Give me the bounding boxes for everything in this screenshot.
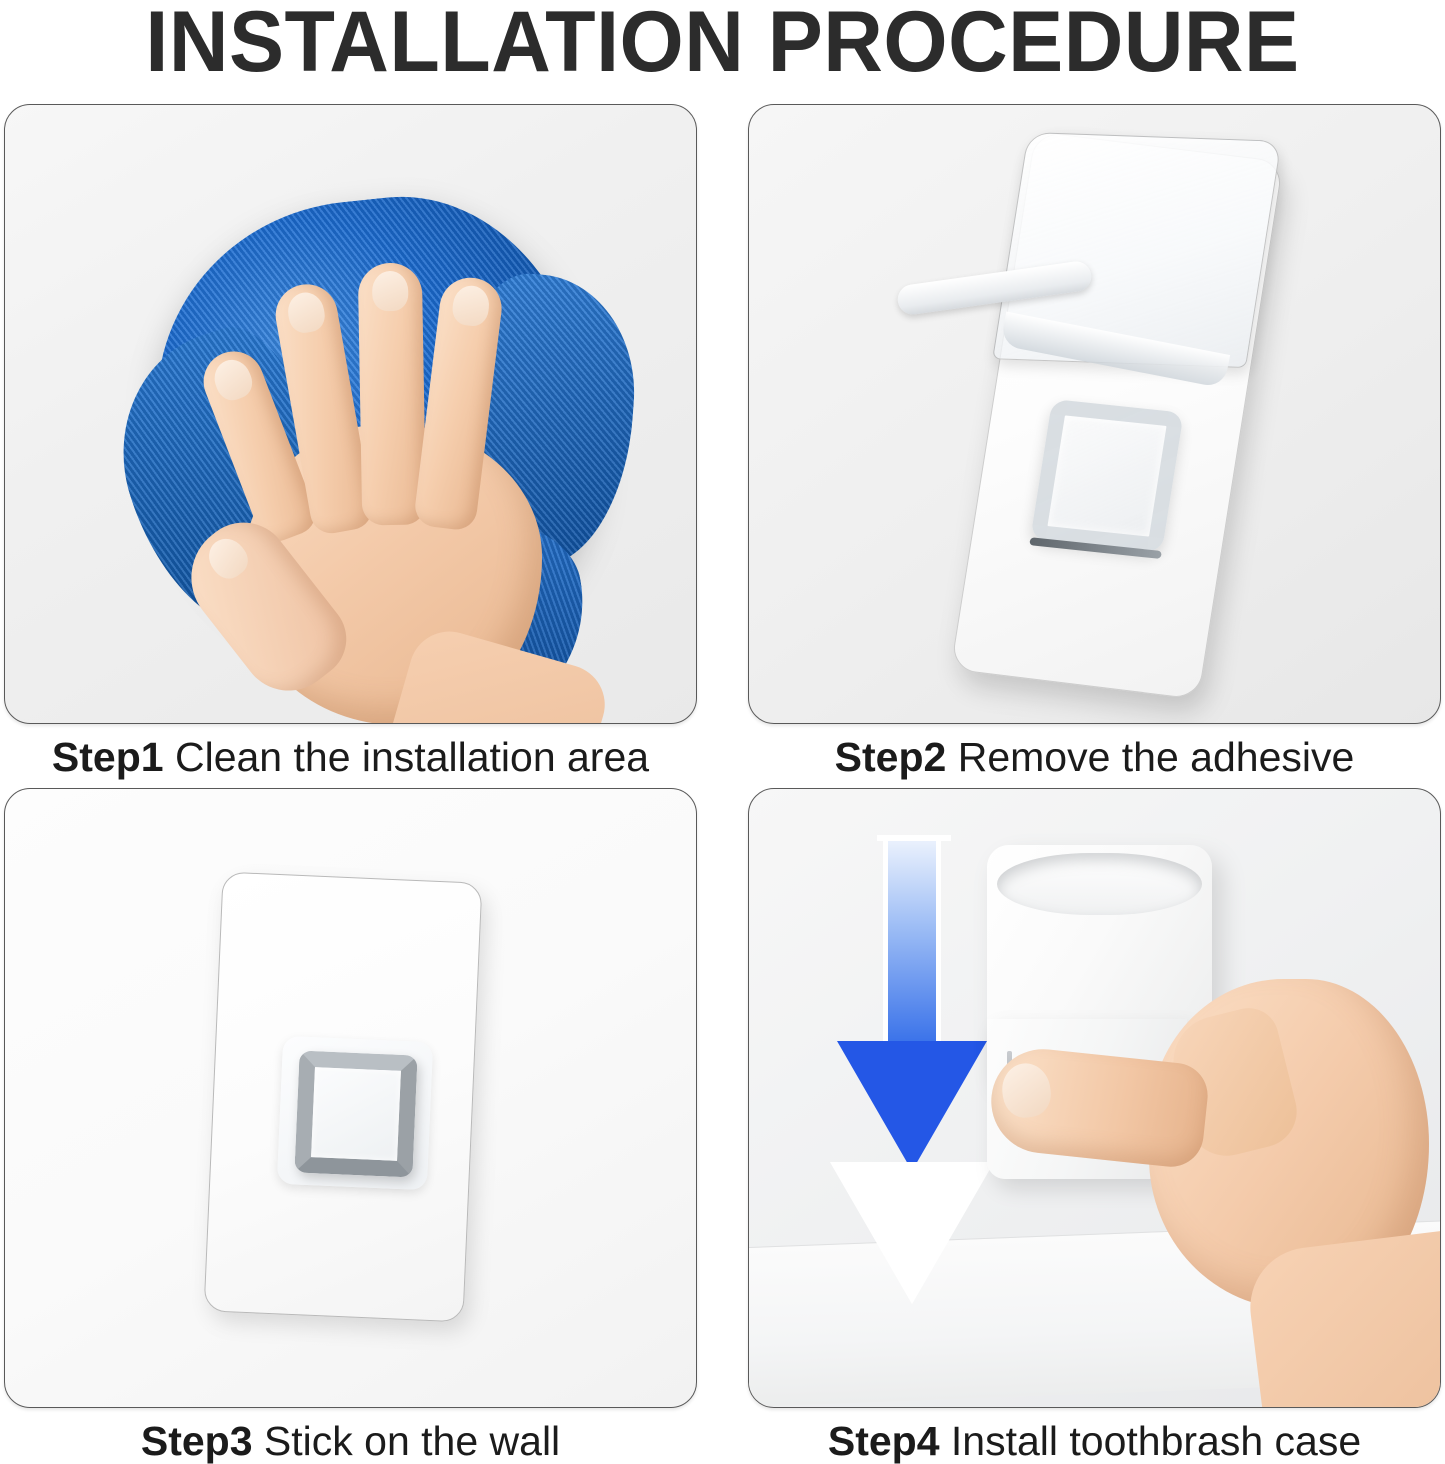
step3-caption: Step3 Stick on the wall [4,1416,697,1464]
step4-illustration-panel [748,788,1441,1408]
step1-illustration-panel [4,104,697,724]
page-title: INSTALLATION PROCEDURE [29,0,1416,88]
mounting-bracket-icon [294,1050,417,1177]
step3-illustration-panel [4,788,697,1408]
step2-caption: Step2 Remove the adhesive [748,732,1441,782]
step4-caption: Step4 Install toothbrash case [748,1416,1441,1464]
fingernail [285,290,327,336]
thumbnail [201,531,254,585]
step-cell-4: Step4 Install toothbrash case [748,788,1441,1464]
step4-label: Step4 [828,1418,940,1464]
arrow-head [837,1041,987,1171]
hand-icon [1109,909,1441,1408]
step-cell-3: Step3 Stick on the wall [4,788,697,1464]
step-cell-2: Step2 Remove the adhesive [748,104,1441,788]
step1-caption: Step1 Clean the installation area [4,732,697,782]
fingernail [209,355,257,405]
mounting-bracket-icon [1030,399,1184,553]
steps-grid: Step1 Clean the installation area Step2 … [4,104,1441,1454]
arrow-shaft [883,841,941,1056]
step-cell-1: Step1 Clean the installation area [4,104,697,788]
fingernail [372,271,409,312]
thumbnail [999,1060,1054,1120]
step4-description: Install toothbrash case [951,1418,1361,1464]
hand-icon [210,255,550,715]
finger [358,262,427,525]
step1-description: Clean the installation area [175,734,649,780]
installation-procedure-page: INSTALLATION PROCEDURE Step1 [0,0,1445,1464]
case-rim [997,853,1202,915]
down-arrow-icon [837,841,987,1171]
step1-label: Step1 [52,734,164,780]
step3-label: Step3 [141,1418,253,1464]
step2-label: Step2 [835,734,947,780]
step3-description: Stick on the wall [264,1418,560,1464]
fingernail [451,284,492,328]
step2-description: Remove the adhesive [958,734,1355,780]
step2-illustration-panel [748,104,1441,724]
